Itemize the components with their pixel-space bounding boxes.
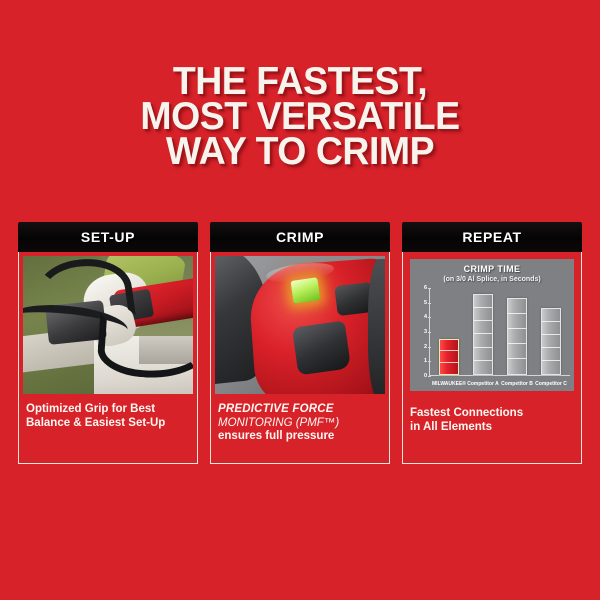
panel-header-repeat: REPEAT: [402, 222, 582, 252]
chart-bar-competitor: [473, 294, 493, 375]
caption-set-up-line-2: Balance & Easiest Set-Up: [26, 417, 190, 431]
chart-bar-segment: [474, 320, 492, 321]
panel-crimp: CRIMP PREDICTIVE FORCE MONITORING (PMF™)…: [210, 222, 390, 464]
tool-rear-edge: [368, 259, 385, 394]
caption-repeat: Fastest Connections in All Elements: [403, 398, 581, 434]
chart-bar-segment: [542, 321, 560, 322]
photo-worker-crimping: [23, 256, 193, 394]
chart-bar-segment: [508, 343, 526, 344]
chart-y-tick: 5: [424, 300, 427, 306]
chart-bar-label: Competitor C: [527, 381, 576, 387]
chart-bar-segment: [508, 313, 526, 314]
headline-line-3: WAY TO CRIMP: [12, 134, 588, 169]
caption-crimp: PREDICTIVE FORCE MONITORING (PMF™) ensur…: [211, 394, 389, 444]
caption-crimp-sub: MONITORING (PMF™): [218, 417, 382, 431]
panel-body-crimp: PREDICTIVE FORCE MONITORING (PMF™) ensur…: [210, 252, 390, 464]
chart-subtitle: (on 3/0 Al Splice, in Seconds): [414, 275, 570, 284]
steps-panel-row: SET-UP Optimized Grip for Best Balance &: [18, 222, 582, 464]
chart-title: CRIMP TIME: [414, 264, 570, 274]
chart-bar-column: Competitor A: [467, 288, 500, 375]
chart-y-tick: 3: [424, 329, 427, 335]
caption-set-up-line-1: Optimized Grip for Best: [26, 403, 190, 417]
caption-set-up: Optimized Grip for Best Balance & Easies…: [19, 394, 197, 430]
caption-repeat-line-1: Fastest Connections: [410, 407, 574, 421]
chart-plot-area: 0123456 MILWAUKEE®Competitor ACompetitor…: [414, 288, 570, 389]
chart-bar-competitor: [541, 308, 561, 375]
panel-repeat: REPEAT CRIMP TIME (on 3/0 Al Splice, in …: [402, 222, 582, 464]
chart-bar-column: MILWAUKEE®: [433, 288, 466, 375]
headline-line-2: MOST VERSATILE: [12, 99, 588, 134]
chart-bar-segment: [542, 360, 560, 361]
chart-bars: MILWAUKEE®Competitor ACompetitor BCompet…: [430, 288, 570, 376]
panel-body-set-up: Optimized Grip for Best Balance & Easies…: [18, 252, 198, 464]
chart-bar-segment: [474, 333, 492, 334]
panel-header-crimp: CRIMP: [210, 222, 390, 252]
chart-bar-segment: [508, 358, 526, 359]
crimp-time-chart: CRIMP TIME (on 3/0 Al Splice, in Seconds…: [407, 256, 577, 394]
chart-bar-segment: [474, 347, 492, 348]
panel-body-repeat: CRIMP TIME (on 3/0 Al Splice, in Seconds…: [402, 252, 582, 464]
chart-bar-competitor: [507, 298, 527, 375]
chart-bar-segment: [542, 347, 560, 348]
chart-y-tick: 6: [424, 285, 427, 291]
chart-y-tick: 1: [424, 358, 427, 364]
caption-repeat-line-2: in All Elements: [410, 421, 574, 435]
green-led-indicator: [290, 278, 320, 305]
tool-button-main: [292, 320, 351, 375]
photo-crimper-led: [215, 256, 385, 394]
caption-crimp-emphasis: PREDICTIVE FORCE: [218, 403, 382, 417]
chart-bar-milwaukee: [439, 339, 459, 375]
chart-bar-segment: [542, 334, 560, 335]
chart-bar-column: Competitor C: [535, 288, 568, 375]
page-title: THE FASTEST, MOST VERSATILE WAY TO CRIMP: [12, 64, 588, 169]
panel-header-set-up: SET-UP: [18, 222, 198, 252]
caption-crimp-line-2: ensures full pressure: [218, 430, 382, 444]
chart-y-tick: 4: [424, 314, 427, 320]
chart-bar-segment: [440, 362, 458, 363]
headline-line-1: THE FASTEST,: [12, 64, 588, 99]
chart-y-tick: 2: [424, 344, 427, 350]
chart-y-tick: 0: [424, 373, 427, 379]
chart-bar-segment: [474, 360, 492, 361]
chart-bar-column: Competitor B: [501, 288, 534, 375]
chart-bar-segment: [508, 328, 526, 329]
chart-bar-segment: [474, 307, 492, 308]
chart-bar-segment: [440, 350, 458, 351]
panel-set-up: SET-UP Optimized Grip for Best Balance &: [18, 222, 198, 464]
chart-y-axis: 0123456: [414, 288, 430, 376]
